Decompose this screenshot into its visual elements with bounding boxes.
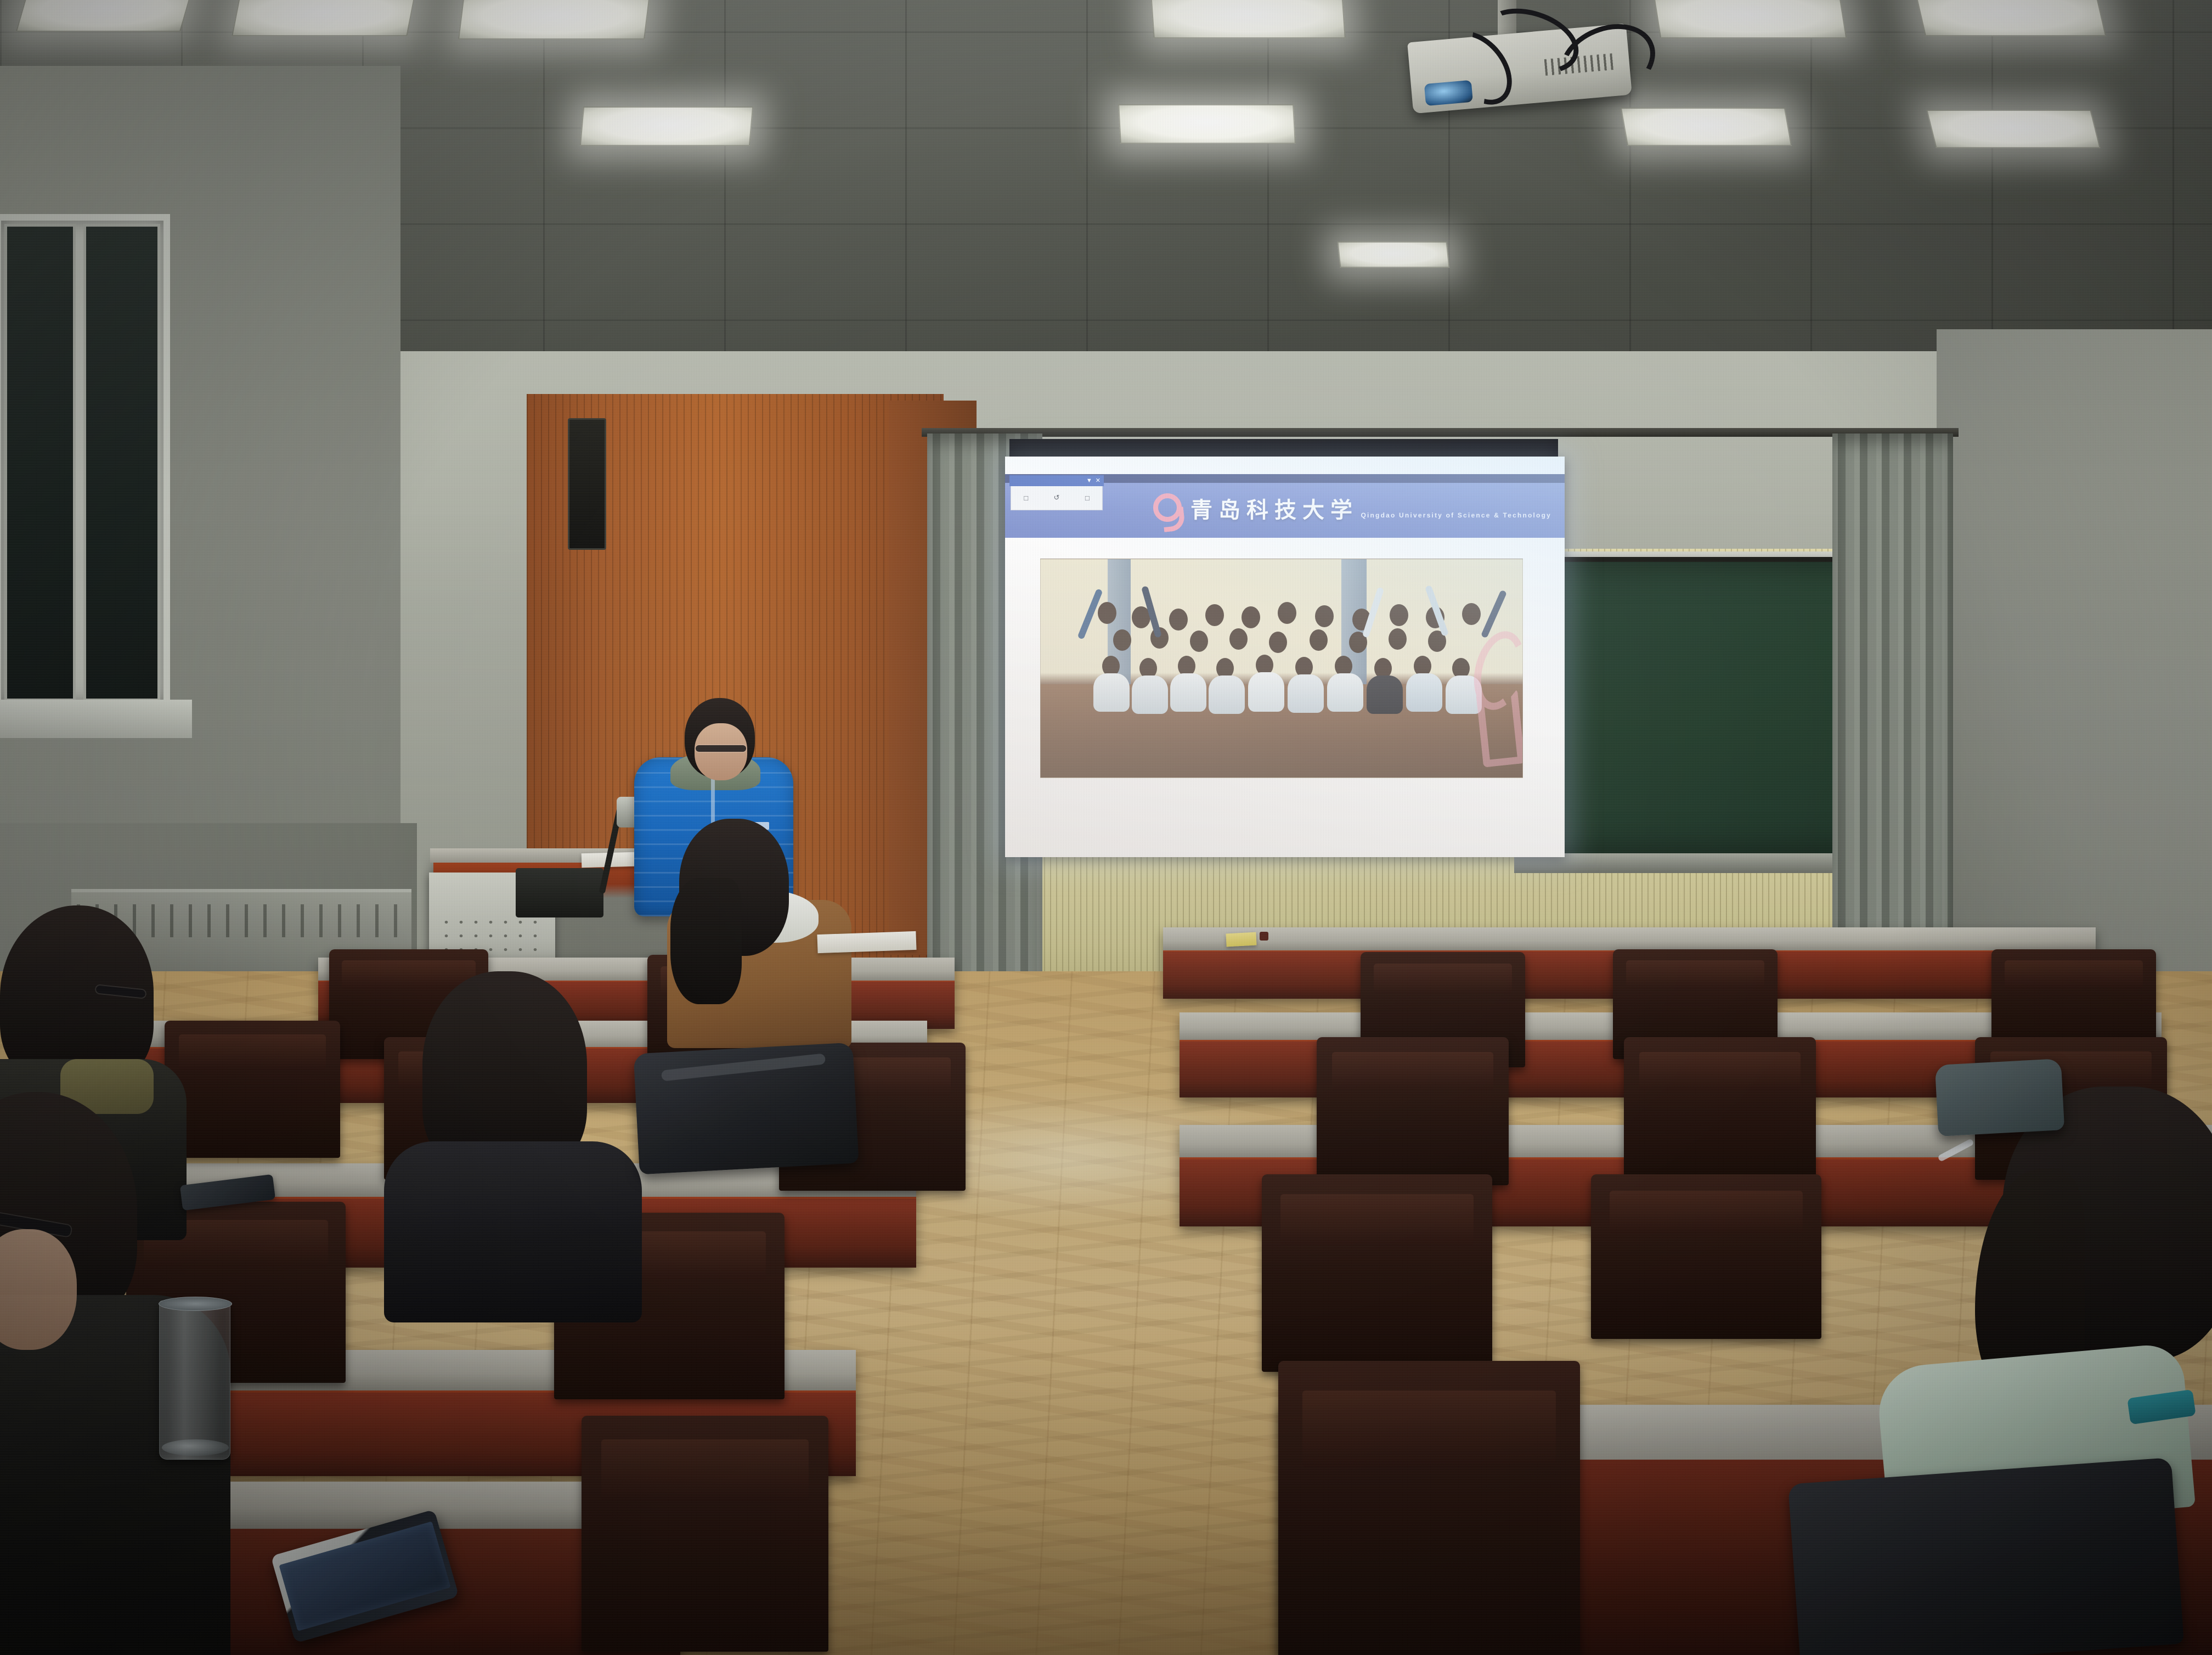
undo-icon[interactable]: ↺ — [1054, 493, 1060, 502]
ppt-titlebar: ▼ ✕ — [1009, 475, 1104, 486]
photo-person — [1098, 602, 1116, 624]
photo-person-body — [1132, 675, 1168, 714]
photo-person — [1278, 602, 1296, 624]
photo-person-body — [1248, 672, 1284, 712]
projection-screen-housing — [1009, 439, 1558, 459]
slide-group-photo — [1040, 559, 1523, 778]
ceiling-light-panel — [1118, 104, 1296, 144]
photo-person — [1462, 603, 1481, 625]
desk-top — [1163, 927, 2096, 952]
photo-person-body — [1170, 673, 1206, 712]
left-window — [0, 214, 170, 708]
window-pane — [83, 224, 160, 701]
presenter-glasses — [696, 745, 746, 752]
ceiling-light-panel — [458, 0, 650, 40]
photo-person — [1242, 606, 1260, 628]
photo-person — [1169, 609, 1188, 631]
photo-person — [1229, 628, 1248, 650]
photo-person — [1315, 605, 1334, 627]
photo-person-body — [1209, 675, 1245, 714]
ceiling-light-panel — [1915, 0, 2106, 36]
photo-person — [1190, 631, 1208, 652]
curtain-rod — [922, 428, 1959, 437]
window-sill — [0, 700, 192, 738]
chair[interactable] — [1317, 1037, 1509, 1185]
university-branding: 青岛科技大学 Qingdao University of Science & T… — [1190, 499, 1551, 521]
ceiling-light-panel — [1150, 0, 1346, 38]
ceiling-light-panel — [1621, 108, 1792, 146]
minimize-icon[interactable]: ▼ — [1086, 478, 1092, 484]
photo-person — [1113, 629, 1131, 651]
chair[interactable] — [1278, 1361, 1580, 1655]
student-hair-fall — [670, 878, 742, 1004]
student-shoulders — [384, 1141, 642, 1322]
photo-person — [1389, 628, 1407, 650]
ceiling-light-panel — [1926, 110, 2100, 148]
redo-icon[interactable]: □ — [1085, 494, 1090, 502]
backpack-on-desk[interactable] — [1788, 1457, 2184, 1655]
av-equipment-dark-unit — [516, 868, 603, 917]
wall-speaker — [568, 418, 606, 550]
photo-person-body — [1367, 675, 1403, 714]
chair[interactable] — [1591, 1174, 1821, 1339]
right-wall — [1937, 329, 2212, 1032]
ceiling-light-panel — [1337, 241, 1449, 268]
bag-on-right-desk[interactable] — [1935, 1059, 2064, 1136]
window-pane — [4, 224, 76, 701]
photo-person — [1310, 629, 1328, 651]
ceiling-light-panel — [232, 0, 416, 36]
notebook-on-desk[interactable] — [817, 931, 916, 953]
glass-base — [162, 1439, 229, 1456]
chair[interactable] — [165, 1021, 340, 1158]
photo-person — [1205, 604, 1224, 626]
water-glass[interactable] — [159, 1301, 230, 1460]
university-name-cn: 青岛科技大学 — [1190, 498, 1358, 523]
presenter-face — [695, 723, 747, 780]
projection-screen: ▼ ✕ □ ↺ □ 青岛科技大学 Qingdao University of S… — [1005, 457, 1565, 857]
slide-watermark — [1470, 625, 1519, 762]
ceiling-light-panel — [580, 106, 753, 146]
chair[interactable] — [1262, 1174, 1492, 1372]
ceiling-light-panel — [16, 0, 193, 32]
chair[interactable] — [582, 1416, 828, 1652]
photo-person-body — [1288, 674, 1324, 713]
ceiling-light-panel — [1654, 0, 1847, 38]
yellow-paper-on-desk[interactable] — [1226, 932, 1256, 947]
chair[interactable] — [1624, 1037, 1816, 1185]
glass-rim — [159, 1297, 232, 1311]
photo-person-body — [1406, 673, 1442, 712]
photo-person-body — [1327, 673, 1363, 712]
photo-person — [1390, 604, 1408, 626]
ppt-quick-access-toolbar[interactable]: □ ↺ □ — [1011, 485, 1103, 510]
photo-person-body — [1093, 673, 1130, 712]
small-object-on-desk — [1260, 932, 1268, 941]
university-name-en: Qingdao University of Science & Technolo… — [1361, 511, 1551, 519]
photo-person — [1269, 632, 1287, 653]
save-icon[interactable]: □ — [1024, 494, 1028, 502]
classroom-photo-scene: ▼ ✕ □ ↺ □ 青岛科技大学 Qingdao University of S… — [0, 0, 2212, 1655]
qust-q-logo-icon — [1151, 493, 1182, 527]
close-icon[interactable]: ✕ — [1096, 478, 1101, 484]
